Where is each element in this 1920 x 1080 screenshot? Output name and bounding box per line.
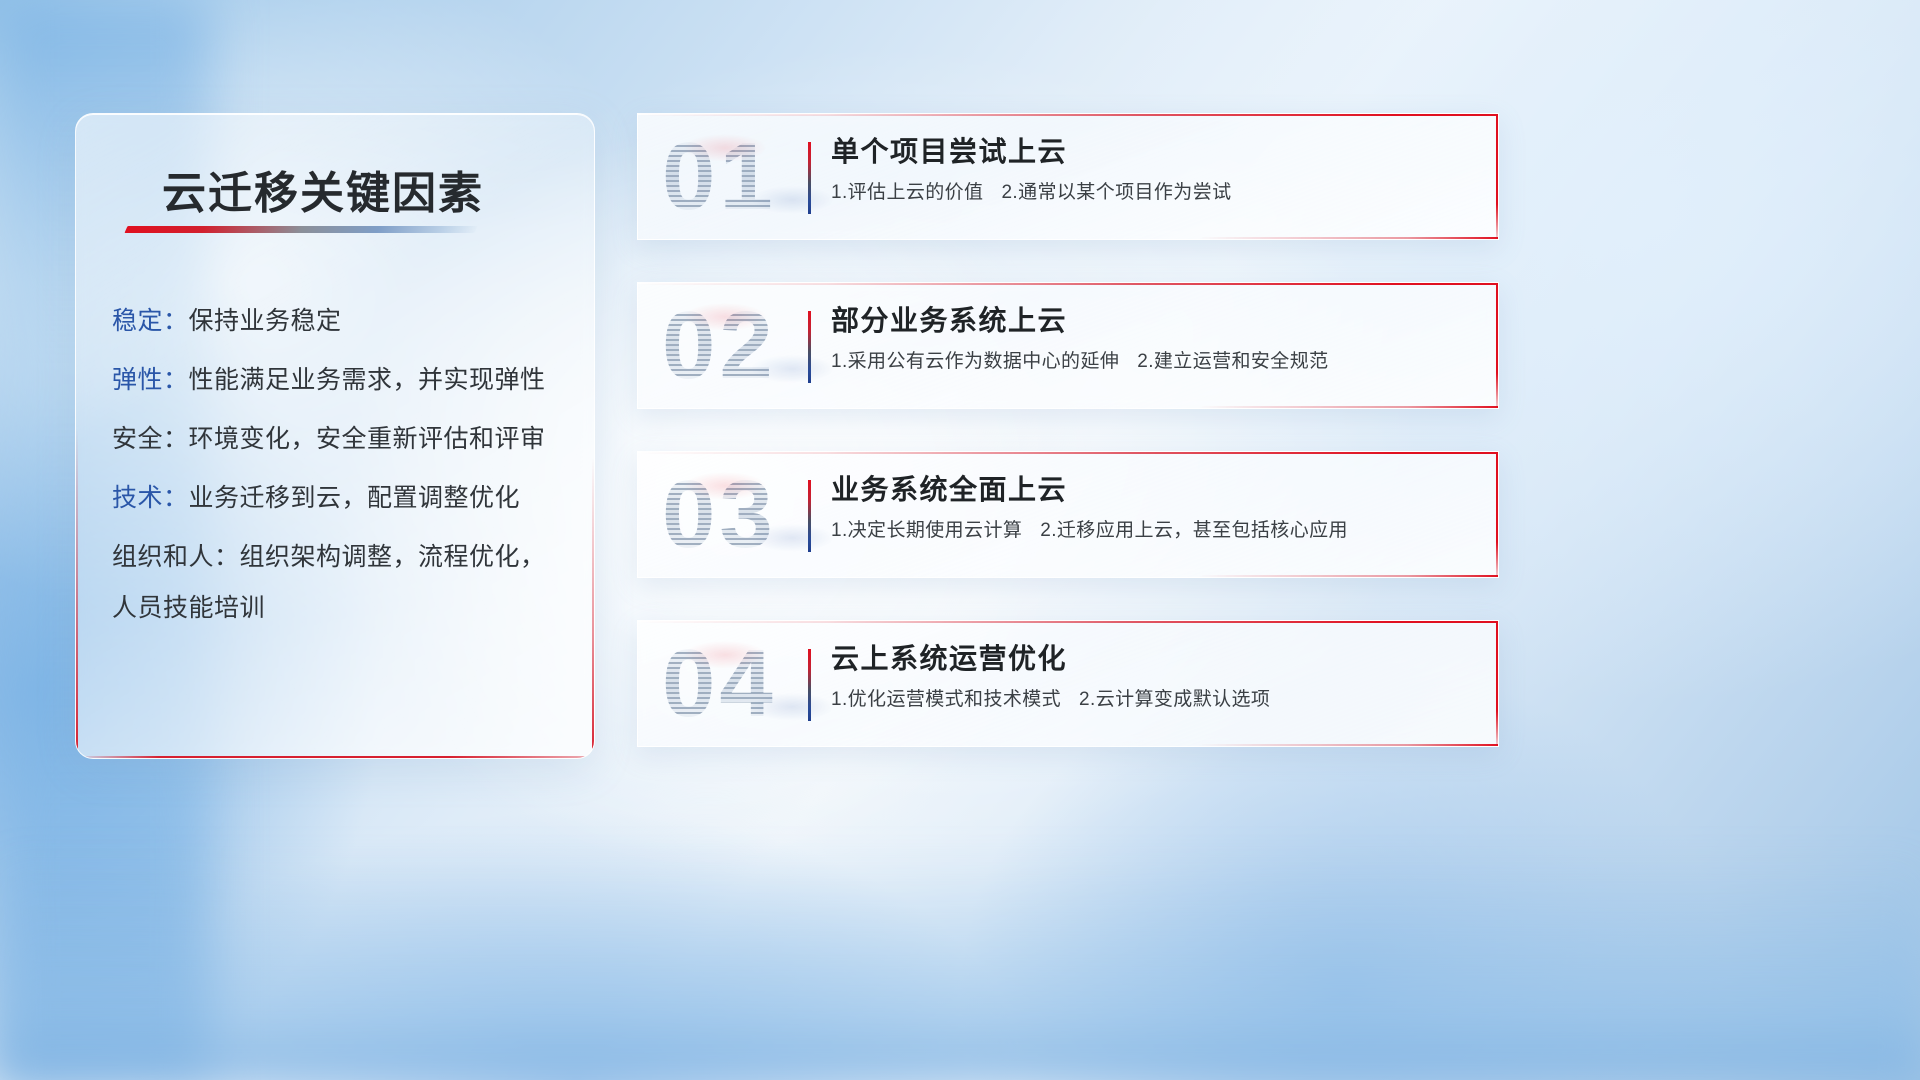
panel-accent-bottom [76,756,594,758]
card-accent-top [638,114,1498,116]
step-desc-part-1: 1.采用公有云作为数据中心的延伸 [831,351,1119,372]
step-text-block: 云上系统运营优化 1.优化运营模式和技术模式2.云计算变成默认选项 [831,643,1474,712]
step-text-block: 部分业务系统上云 1.采用公有云作为数据中心的延伸2.建立运营和安全规范 [831,305,1474,374]
step-divider-bar [808,142,811,214]
list-item-label: 稳定： [112,307,189,335]
step-description: 1.采用公有云作为数据中心的延伸2.建立运营和安全规范 [831,351,1474,374]
card-accent-top [638,452,1498,454]
list-item: 稳定：保持业务稳定 [112,309,582,334]
list-item-label: 弹性： [112,366,189,394]
page-title: 云迁移关键因素 [162,157,484,221]
step-desc-part-2: 2.迁移应用上云，甚至包括核心应用 [1040,520,1348,541]
list-item-text: 业务迁移到云，配置调整优化 [189,484,521,512]
step-text-block: 业务系统全面上云 1.决定长期使用云计算2.迁移应用上云，甚至包括核心应用 [831,474,1474,543]
step-title: 云上系统运营优化 [831,643,1474,675]
card-accent-right [1496,114,1498,239]
migration-steps-list: 01 单个项目尝试上云 1.评估上云的价值2.通常以某个项目作为尝试 02 部分… [637,113,1499,789]
list-item: 弹性：性能满足业务需求，并实现弹性 [112,368,582,393]
list-item-label: 组织和人： [112,543,240,571]
panel-accent-left [76,428,78,758]
step-desc-part-2: 2.云计算变成默认选项 [1079,689,1270,710]
step-title: 单个项目尝试上云 [831,136,1474,168]
list-item: 组织和人：组织架构调整，流程优化， [112,545,582,570]
list-item: 安全：环境变化，安全重新评估和评审 [112,427,582,452]
list-item-text: 保持业务稳定 [189,307,342,335]
list-item-text: 组织架构调整，流程优化， [240,543,546,571]
step-description: 1.优化运营模式和技术模式2.云计算变成默认选项 [831,689,1474,712]
step-desc-part-2: 2.通常以某个项目作为尝试 [1001,182,1231,203]
step-title: 业务系统全面上云 [831,474,1474,506]
step-description: 1.评估上云的价值2.通常以某个项目作为尝试 [831,182,1474,205]
card-accent-bottom [1198,575,1498,577]
card-accent-bottom [1198,744,1498,746]
step-desc-part-2: 2.建立运营和安全规范 [1137,351,1328,372]
list-item-continuation: 人员技能培训 [112,596,582,621]
title-underline [124,226,477,233]
slide-stage: 云迁移关键因素 稳定：保持业务稳定 弹性：性能满足业务需求，并实现弹性 安全：环… [0,0,1920,1080]
list-item-label: 安全： [112,425,189,453]
list-item-text: 环境变化，安全重新评估和评审 [189,425,546,453]
step-title: 部分业务系统上云 [831,305,1474,337]
step-divider-bar [808,311,811,383]
step-desc-part-1: 1.决定长期使用云计算 [831,520,1022,541]
list-item-label: 技术： [112,484,189,512]
step-divider-bar [808,480,811,552]
card-accent-top [638,283,1498,285]
card-accent-right [1496,452,1498,577]
step-description: 1.决定长期使用云计算2.迁移应用上云，甚至包括核心应用 [831,520,1474,543]
step-desc-part-1: 1.优化运营模式和技术模式 [831,689,1061,710]
key-factors-list: 稳定：保持业务稳定 弹性：性能满足业务需求，并实现弹性 安全：环境变化，安全重新… [112,309,582,655]
step-desc-part-1: 1.评估上云的价值 [831,182,983,203]
panel-accent-right [592,458,594,758]
card-accent-right [1496,621,1498,746]
step-card-01[interactable]: 01 单个项目尝试上云 1.评估上云的价值2.通常以某个项目作为尝试 [637,113,1499,240]
card-accent-right [1496,283,1498,408]
step-text-block: 单个项目尝试上云 1.评估上云的价值2.通常以某个项目作为尝试 [831,136,1474,205]
list-item: 技术：业务迁移到云，配置调整优化 [112,486,582,511]
card-accent-top [638,621,1498,623]
step-card-02[interactable]: 02 部分业务系统上云 1.采用公有云作为数据中心的延伸2.建立运营和安全规范 [637,282,1499,409]
step-card-04[interactable]: 04 云上系统运营优化 1.优化运营模式和技术模式2.云计算变成默认选项 [637,620,1499,747]
step-divider-bar [808,649,811,721]
card-accent-bottom [1198,237,1498,239]
key-factors-panel: 云迁移关键因素 稳定：保持业务稳定 弹性：性能满足业务需求，并实现弹性 安全：环… [75,113,595,759]
step-card-03[interactable]: 03 业务系统全面上云 1.决定长期使用云计算2.迁移应用上云，甚至包括核心应用 [637,451,1499,578]
list-item-text: 人员技能培训 [112,594,265,622]
list-item-text: 性能满足业务需求，并实现弹性 [189,366,546,394]
card-accent-bottom [1198,406,1498,408]
